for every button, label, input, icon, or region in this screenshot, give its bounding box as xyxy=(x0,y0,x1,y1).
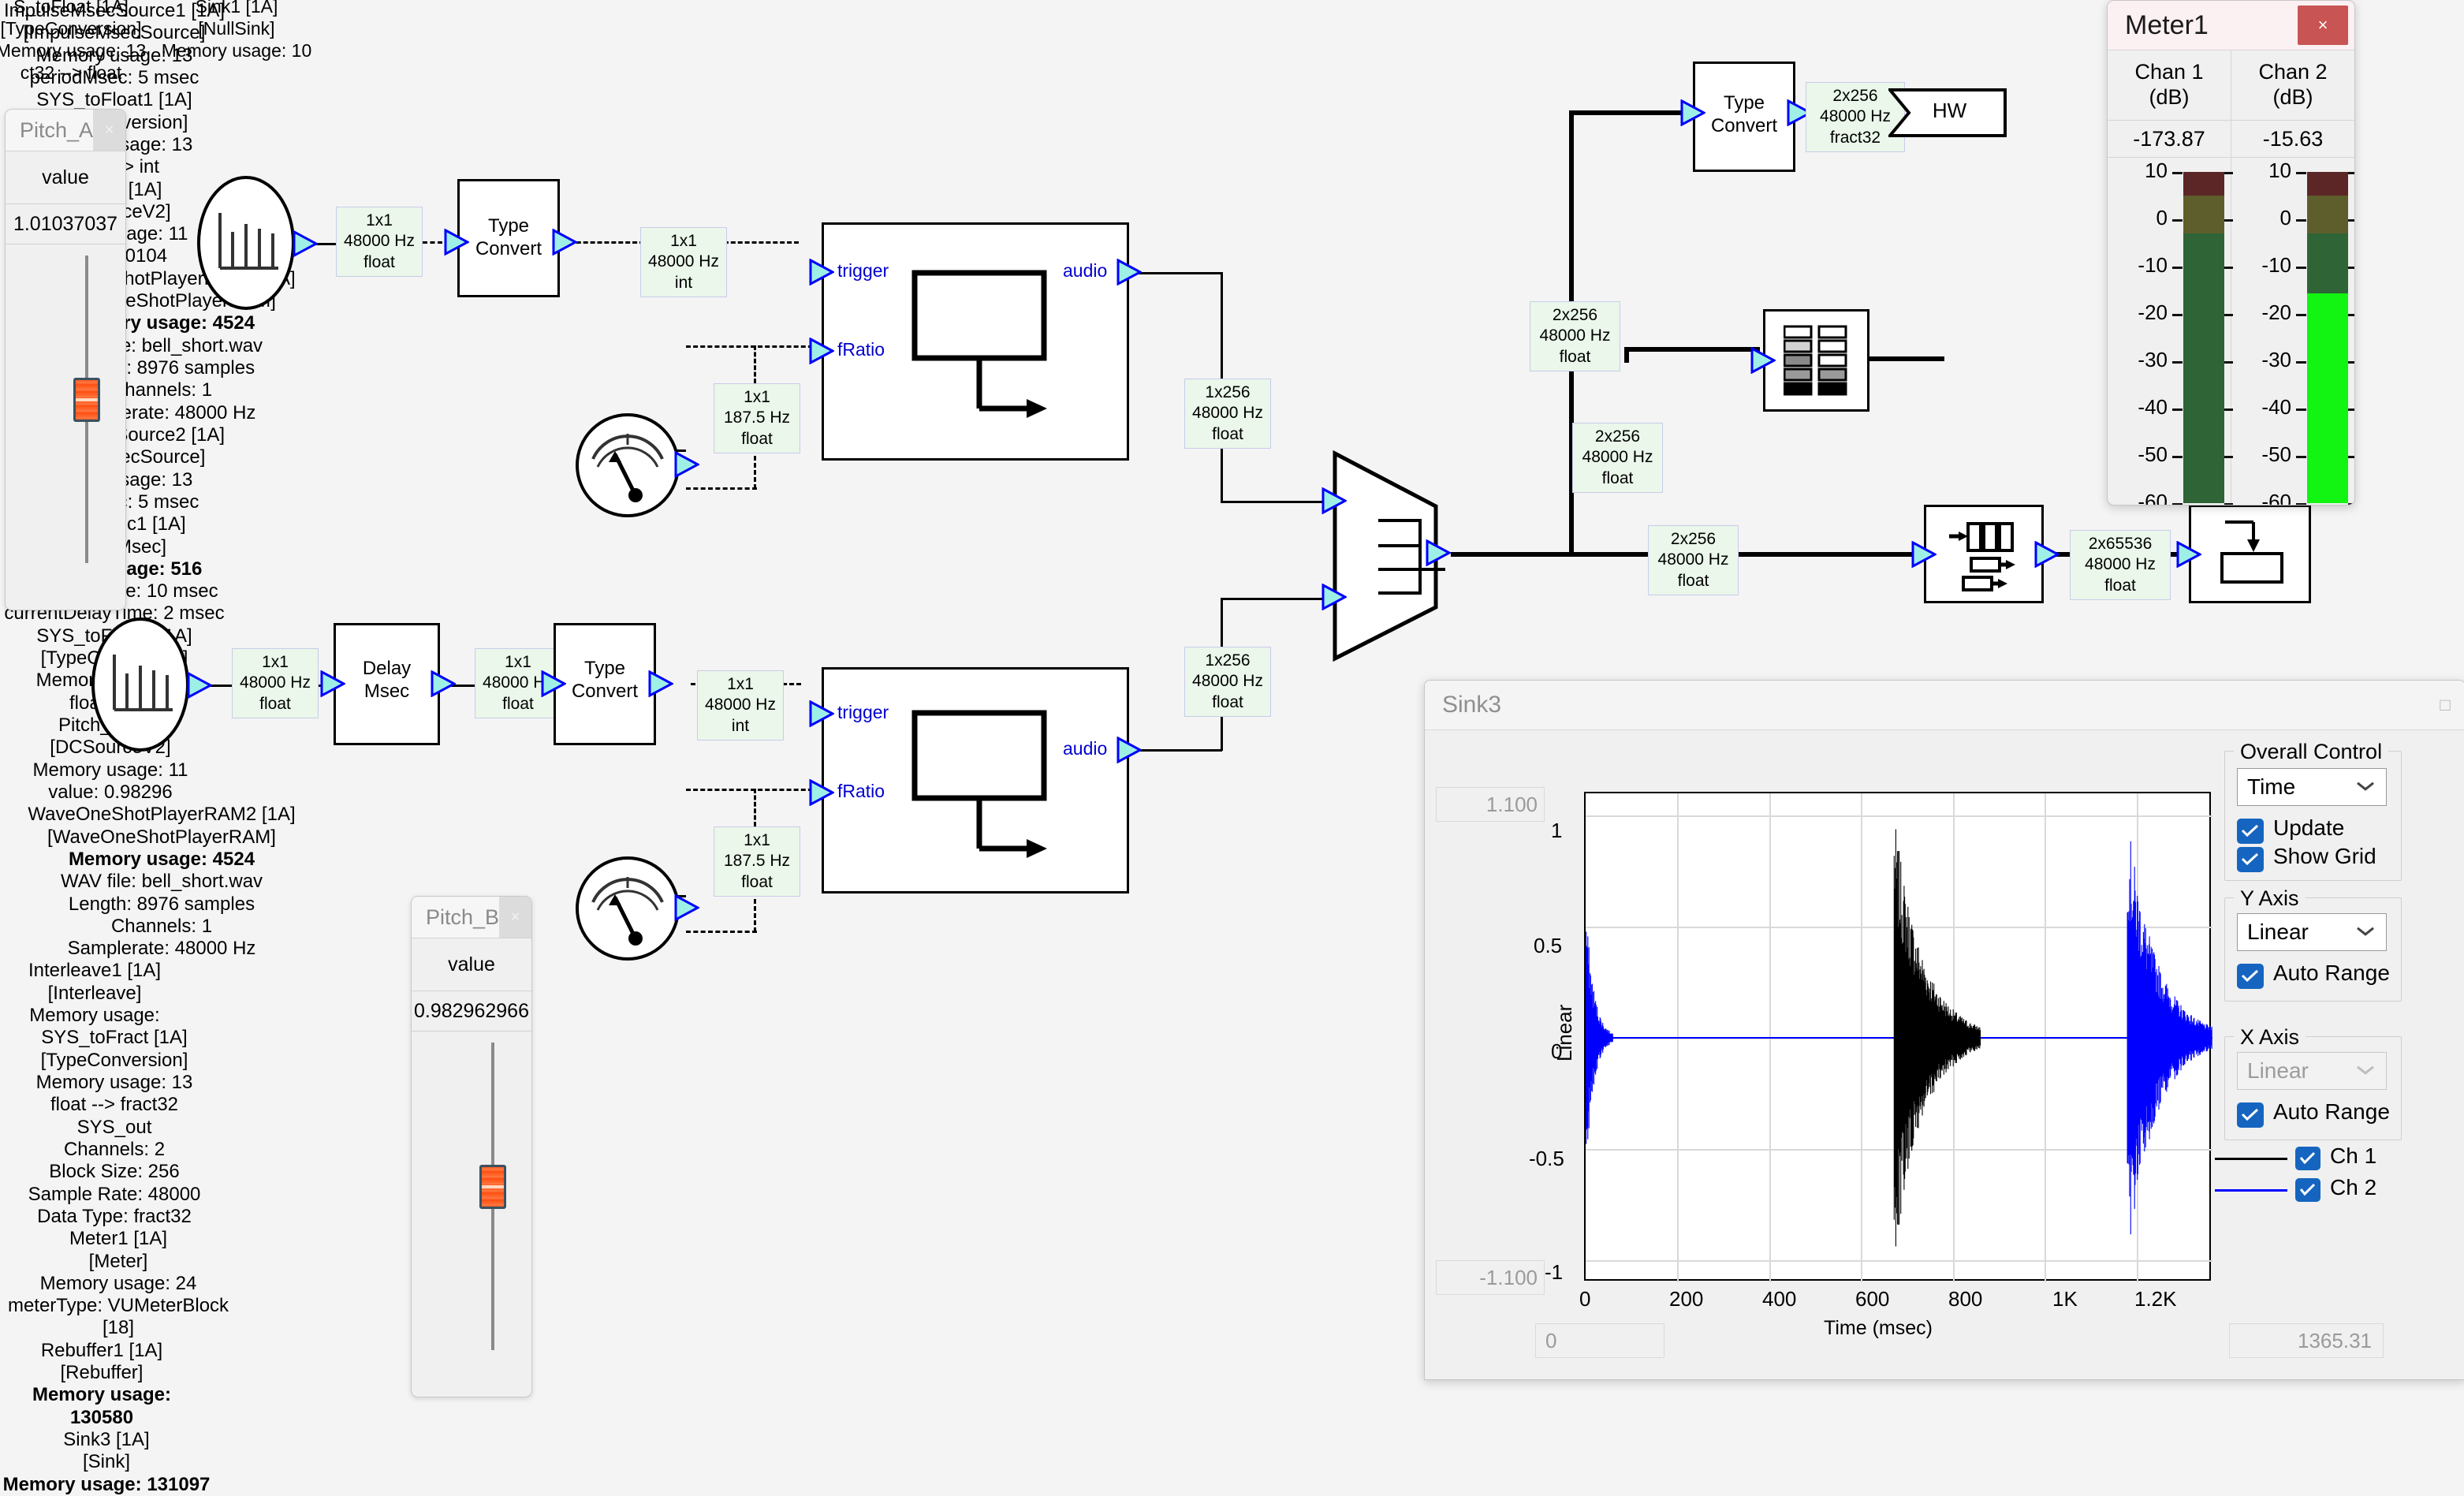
meter-tick-mark xyxy=(2172,409,2183,411)
sys-tofract-icon-label: Type Convert xyxy=(1693,91,1795,138)
meter-tick-mark xyxy=(2172,456,2183,458)
signal-label: 1x1 48000 Hz float xyxy=(232,648,319,718)
pitch-b-panel-header: Pitch_B × xyxy=(412,897,531,938)
meter-tick-mark xyxy=(2172,219,2183,222)
meter-tick-mark xyxy=(2296,503,2306,506)
ch2-legend-label: Ch 2 xyxy=(2330,1175,2376,1200)
input-port-icon xyxy=(1321,584,1347,610)
chan2-bargraph: 100-10-20-30-40-50-60 xyxy=(2231,158,2354,506)
meter-tick-label: -20 xyxy=(2231,300,2291,325)
check-icon xyxy=(2299,1183,2317,1198)
wire xyxy=(1221,598,1331,600)
x-tick-label: 400 xyxy=(1762,1287,1796,1311)
showgrid-label: Show Grid xyxy=(2273,844,2376,869)
meter-tick-mark xyxy=(2172,172,2183,174)
showgrid-checkbox[interactable] xyxy=(2237,847,2264,872)
pitch-a-title: Pitch_A xyxy=(6,118,93,143)
meter-tick-label: 0 xyxy=(2231,206,2291,230)
y-tick-label: 0 xyxy=(1551,1039,1562,1064)
signal-label: 1x256 48000 Hz float xyxy=(1184,379,1271,449)
pitch-a-value[interactable]: 1.01037037 xyxy=(6,204,125,244)
input-port-icon xyxy=(541,670,566,697)
meter-tick-mark xyxy=(2296,409,2306,411)
sink3-window-header: Sink3 □ xyxy=(1425,681,2464,730)
chan1-value: -173.87 xyxy=(2108,121,2231,158)
pitch-b-column-header: value xyxy=(412,938,531,991)
y-axis-scale-value: Linear xyxy=(2247,920,2309,945)
input-port-icon xyxy=(2176,541,2201,568)
impulse-source-icon xyxy=(196,175,299,311)
check-icon xyxy=(2241,823,2260,839)
meter-tick-label: -40 xyxy=(2108,395,2168,420)
pitch-a-slider[interactable] xyxy=(6,244,125,580)
wire xyxy=(1129,749,1222,752)
y-tick-label: -1 xyxy=(1545,1260,1563,1285)
check-icon xyxy=(2241,1107,2260,1123)
meter-tick-mark xyxy=(2296,314,2306,316)
wire xyxy=(686,487,757,490)
signal-label: 2x65536 48000 Hz float xyxy=(2070,530,2171,600)
meter-tick-mark xyxy=(2296,456,2306,458)
meter-tick-label: -50 xyxy=(2108,442,2168,467)
y-autorange-label: Auto Range xyxy=(2273,961,2390,986)
meter-bar xyxy=(2183,172,2224,503)
meter-tick-label: -60 xyxy=(2231,490,2291,506)
audio-output-port-icon xyxy=(1116,737,1142,763)
x-autorange-checkbox[interactable] xyxy=(2237,1102,2264,1128)
ch1-legend-line xyxy=(2215,1158,2287,1160)
signal-label: 2x256 48000 Hz float xyxy=(1530,301,1620,371)
audio-pin-label: audio xyxy=(1063,260,1107,282)
meter-tick-mark xyxy=(2348,172,2355,174)
x-axis-scale-value: Linear xyxy=(2247,1058,2309,1084)
y-range-min[interactable]: -1.100 xyxy=(1436,1260,1545,1295)
meter-tick-mark xyxy=(2348,503,2355,506)
meter-tick-mark xyxy=(2172,361,2183,364)
meter-tick-mark xyxy=(2172,503,2183,506)
sink1-top-label: Sink1 [1A] [NullSink] Memory usage: 10 xyxy=(118,0,355,62)
update-checkbox[interactable] xyxy=(2237,819,2264,844)
meter-tick-label: -30 xyxy=(2108,348,2168,372)
meter-tick-label: 0 xyxy=(2108,206,2168,230)
pitch-b-value[interactable]: 0.982962966 xyxy=(412,991,531,1032)
x-axis-legend: X Axis xyxy=(2234,1025,2306,1050)
output-port-icon xyxy=(2034,541,2060,568)
pitch-b-title: Pitch_B xyxy=(412,905,499,930)
y-tick-label: -0.5 xyxy=(1529,1147,1564,1171)
pitch-a-slider-knob[interactable] xyxy=(73,378,100,422)
meter1-block-label: Meter1 [1A] [Meter] Memory usage: 24 met… xyxy=(0,1228,237,1340)
wire xyxy=(1569,110,1695,115)
meter-tick-label: -60 xyxy=(2108,490,2168,506)
wire xyxy=(686,931,757,933)
y-axis-legend: Y Axis xyxy=(2234,886,2306,911)
meter-bar xyxy=(2307,172,2348,503)
meter-tick-mark xyxy=(2348,314,2355,316)
wire xyxy=(686,345,820,348)
meter-channel-2: Chan 2 (dB) -15.63 100-10-20-30-40-50-60 xyxy=(2231,50,2354,506)
output-port-icon xyxy=(293,230,318,257)
ch2-visibility-checkbox[interactable] xyxy=(2295,1178,2320,1202)
input-port-icon xyxy=(1680,99,1705,126)
meter-tick-label: -40 xyxy=(2231,395,2291,420)
rebuffer1-label: Rebuffer1 [1A] [Rebuffer] Memory usage: … xyxy=(0,1340,203,1429)
ch1-visibility-checkbox[interactable] xyxy=(2295,1147,2320,1170)
y-tick-label: 1 xyxy=(1551,819,1562,843)
chan2-value: -15.63 xyxy=(2231,121,2354,158)
x-tick-label: 200 xyxy=(1669,1287,1703,1311)
pitch-a-panel-header: Pitch_A × xyxy=(6,110,125,151)
x-tick-label: 1K xyxy=(2052,1287,2078,1311)
output-port-icon xyxy=(187,672,212,699)
impulse-source-icon xyxy=(91,617,193,752)
chevron-down-icon xyxy=(2356,772,2375,797)
meter-tick-mark xyxy=(2172,314,2183,316)
fratio-pin-label: fRatio xyxy=(837,339,885,360)
hw-icon-label: HW xyxy=(1892,99,2007,124)
sink3-window-title: Sink3 xyxy=(1425,692,2425,718)
x-range-min[interactable]: 0 xyxy=(1535,1323,1664,1358)
sink-icon xyxy=(2216,517,2291,597)
chan2-header: Chan 2 (dB) xyxy=(2231,50,2354,121)
sys-tofloat2-icon-label: Type Convert xyxy=(554,657,656,703)
x-range-max[interactable]: 1365.31 xyxy=(2229,1323,2384,1358)
wire xyxy=(1624,347,1758,352)
meter-tick-mark xyxy=(2348,361,2355,364)
pitch-b-slider[interactable] xyxy=(412,1032,531,1367)
output-port-icon xyxy=(674,894,699,921)
fratio-port-icon xyxy=(809,338,834,364)
wire xyxy=(754,789,756,826)
meter-tick-label: 10 xyxy=(2108,159,2168,183)
signal-label: 1x256 48000 Hz float xyxy=(1184,647,1271,717)
chevron-down-icon xyxy=(2356,917,2375,942)
waveplayer-icon xyxy=(908,268,1066,430)
check-icon xyxy=(2241,968,2260,984)
sink3-block-label: Sink3 [1A] [Sink] Memory usage: 131097 xyxy=(0,1429,213,1496)
maximize-icon[interactable]: □ xyxy=(2425,695,2464,715)
meter-tick-label: -10 xyxy=(2231,253,2291,278)
input-port-icon xyxy=(1321,487,1347,514)
meter-zone xyxy=(2307,196,2348,233)
meter1-window[interactable]: Meter1 × Chan 1 (dB) -173.87 100-10-20-3… xyxy=(2107,0,2355,506)
signal-label: 2x256 48000 Hz float xyxy=(1572,423,1663,493)
sink3-window-body: 1.100 -1.100 0 1365.31 Linear 1 0.5 0 -0… xyxy=(1425,730,2464,1380)
fratio-port-icon xyxy=(809,779,834,806)
output-port-icon xyxy=(648,670,673,697)
meter-tick-mark xyxy=(2348,267,2355,269)
meter-zone xyxy=(2307,172,2348,196)
delay-msec1-icon-label: Delay Msec xyxy=(334,657,440,703)
pitch-a-column-header: value xyxy=(6,151,125,204)
meter-tick-mark xyxy=(2348,409,2355,411)
output-port-icon xyxy=(552,229,577,256)
check-icon xyxy=(2241,852,2260,867)
wire xyxy=(1129,272,1222,274)
wire xyxy=(754,345,756,383)
sys-tofloat1-icon-label: Type Convert xyxy=(457,215,560,261)
meter-channel-1: Chan 1 (dB) -173.87 100-10-20-30-40-50-6… xyxy=(2108,50,2231,506)
y-axis-scale-select[interactable]: Linear xyxy=(2237,913,2387,951)
impulse-msec-source2-block[interactable] xyxy=(91,617,193,756)
hw-label: SYS_out Channels: 2 Block Size: 256 Samp… xyxy=(0,1117,229,1229)
fratio-pin-label: fRatio xyxy=(837,781,885,802)
pitch-a-source-block[interactable] xyxy=(574,410,684,524)
y-tick-label: 0.5 xyxy=(1534,934,1562,958)
ch1-legend-label: Ch 1 xyxy=(2330,1143,2376,1169)
x-axis-scale-select[interactable]: Linear xyxy=(2237,1052,2387,1090)
meter-tick-mark xyxy=(2348,219,2355,222)
signal-label: 2x256 48000 Hz float xyxy=(1648,525,1739,595)
meter-tick-label: -10 xyxy=(2108,253,2168,278)
signal-label: 1x1 48000 Hz int xyxy=(640,227,727,297)
check-icon xyxy=(2299,1151,2317,1166)
gauge-icon xyxy=(574,853,684,964)
ch2-legend-line xyxy=(2215,1189,2287,1192)
audio-output-port-icon xyxy=(1116,259,1142,285)
signal-label: 1x1 48000 Hz int xyxy=(697,670,784,741)
input-port-icon xyxy=(1750,347,1776,374)
meter1-window-header: Meter1 × xyxy=(2108,1,2354,50)
close-icon[interactable]: × xyxy=(2298,6,2348,45)
audio-pin-label: audio xyxy=(1063,738,1107,759)
waveplayer-icon xyxy=(908,708,1066,870)
pitch-b-slider-knob[interactable] xyxy=(479,1165,506,1209)
vu-meter-icon xyxy=(1784,325,1851,403)
impulse-msec-source1-block[interactable] xyxy=(196,175,299,315)
sys-tofract-label: SYS_toFract [1A] [TypeConversion] Memory… xyxy=(0,1027,229,1116)
pitch-b-panel[interactable]: Pitch_B × value 0.982962966 xyxy=(411,896,532,1397)
wave-player2-label: WaveOneShotPlayerRAM2 [1A] [WaveOneShotP… xyxy=(0,804,323,960)
update-label: Update xyxy=(2273,815,2344,841)
trigger-port-icon xyxy=(809,700,834,727)
close-icon[interactable]: × xyxy=(93,110,125,151)
signal-label: 1x1 48000 Hz float xyxy=(336,207,423,277)
meter-tick-mark xyxy=(2296,361,2306,364)
input-port-icon xyxy=(320,670,345,697)
y-range-max[interactable]: 1.100 xyxy=(1436,787,1545,822)
x-tick-label: 0 xyxy=(1579,1287,1590,1311)
input-port-icon xyxy=(1911,541,1937,568)
meter-active-level xyxy=(2307,293,2348,503)
meter-zone xyxy=(2183,172,2224,196)
input-port-icon xyxy=(444,229,469,256)
overall-control-select[interactable]: Time xyxy=(2237,768,2387,806)
meter-zone xyxy=(2183,196,2224,233)
wire xyxy=(1221,501,1331,503)
x-tick-label: 600 xyxy=(1855,1287,1889,1311)
output-port-icon xyxy=(1426,539,1451,566)
x-tick-label: 800 xyxy=(1948,1287,1982,1311)
gauge-icon xyxy=(574,410,684,520)
signal-label: 1x1 187.5 Hz float xyxy=(714,826,800,897)
chan1-bargraph: 100-10-20-30-40-50-60 xyxy=(2108,158,2231,506)
y-autorange-checkbox[interactable] xyxy=(2237,964,2264,989)
chan1-header: Chan 1 (dB) xyxy=(2108,50,2231,121)
signal-label: 1x1 187.5 Hz float xyxy=(714,383,800,453)
meter-tick-mark xyxy=(2296,172,2306,174)
meter-tick-mark xyxy=(2348,456,2355,458)
meter-tick-label: -30 xyxy=(2231,348,2291,372)
overall-control-select-value: Time xyxy=(2247,774,2295,800)
meter-tick-mark xyxy=(2172,267,2183,269)
meter-tick-label: -50 xyxy=(2231,442,2291,467)
trigger-pin-label: trigger xyxy=(837,260,889,282)
pitch-b-source-block[interactable] xyxy=(574,853,684,968)
x-tick-label: 1.2K xyxy=(2134,1287,2177,1311)
chevron-down-icon xyxy=(2356,1056,2375,1081)
wire xyxy=(1705,552,1933,557)
output-port-icon xyxy=(674,451,699,478)
x-axis-label: Time (msec) xyxy=(1824,1317,1933,1340)
output-port-icon xyxy=(431,670,456,697)
meter-tick-label: -20 xyxy=(2108,300,2168,325)
meter-columns: Chan 1 (dB) -173.87 100-10-20-30-40-50-6… xyxy=(2108,50,2354,506)
meter-tick-mark xyxy=(2296,267,2306,269)
meter-tick-label: 10 xyxy=(2231,159,2291,183)
pitch-a-panel[interactable]: Pitch_A × value 1.01037037 xyxy=(5,109,126,610)
waveform-canvas xyxy=(1586,793,2212,1282)
x-autorange-label: Auto Range xyxy=(2273,1099,2390,1125)
wire xyxy=(686,789,820,791)
close-icon[interactable]: × xyxy=(499,897,531,938)
plot-area[interactable] xyxy=(1584,792,2211,1281)
meter1-window-title: Meter1 xyxy=(2108,10,2298,41)
meter-tick-mark xyxy=(2296,219,2306,222)
meter-zone xyxy=(2183,233,2224,503)
sink3-window[interactable]: Sink3 □ 1.100 -1.100 0 1365.31 Linear 1 … xyxy=(1424,680,2464,1380)
trigger-pin-label: trigger xyxy=(837,702,889,723)
overall-control-legend: Overall Control xyxy=(2234,740,2388,764)
rebuffer-icon xyxy=(1948,519,2023,599)
interleave1-label: Interleave1 [1A] [Interleave] Memory usa… xyxy=(0,960,189,1027)
trigger-port-icon xyxy=(809,259,834,285)
